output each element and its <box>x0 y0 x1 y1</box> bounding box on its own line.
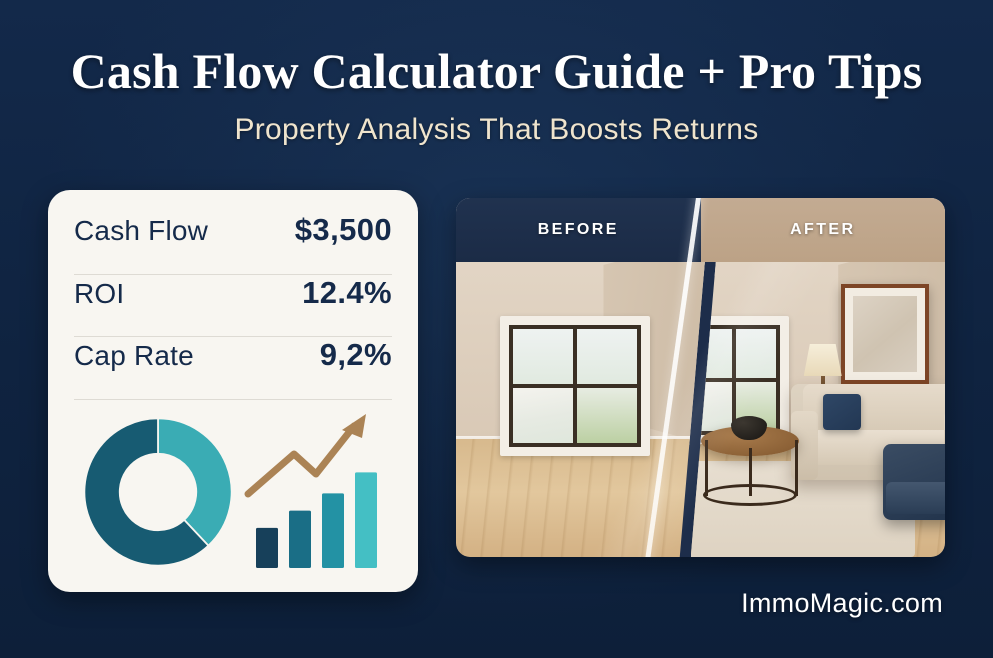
stat-value-roi: 12.4% <box>302 275 392 311</box>
bar-1 <box>256 528 278 568</box>
stat-value-cap-rate: 9,2% <box>320 337 392 373</box>
bar-chart <box>242 408 402 576</box>
before-after-panel[interactable]: BEFORE AFTER <box>456 198 945 557</box>
bar-chart-svg <box>242 408 402 576</box>
window-before <box>500 316 650 456</box>
donut-chart <box>74 412 242 572</box>
floor <box>456 439 710 557</box>
bar-2 <box>289 511 311 568</box>
stat-row-cap-rate: Cap Rate 9,2% <box>74 337 392 399</box>
bar-4 <box>355 472 377 568</box>
table-lamp-icon <box>804 344 842 376</box>
page-subtitle: Property Analysis That Boosts Returns <box>0 113 993 147</box>
coffee-table-leg-left <box>705 440 708 496</box>
bar-3 <box>322 493 344 568</box>
header: Cash Flow Calculator Guide + Pro Tips Pr… <box>0 44 993 147</box>
coffee-table-leg-center <box>749 448 752 496</box>
stat-label-cap-rate: Cap Rate <box>74 340 194 372</box>
stat-label-roi: ROI <box>74 278 124 310</box>
stat-row-roi: ROI 12.4% <box>74 275 392 337</box>
framed-artwork <box>841 284 929 384</box>
charts-area <box>74 400 392 576</box>
poster-canvas: Cash Flow Calculator Guide + Pro Tips Pr… <box>0 0 993 658</box>
coffee-table-leg-right <box>795 440 798 496</box>
brand-watermark: ImmoMagic.com <box>741 588 943 619</box>
before-banner: BEFORE <box>456 198 701 262</box>
after-label: AFTER <box>790 221 855 239</box>
stat-label-cash-flow: Cash Flow <box>74 215 208 247</box>
page-title: Cash Flow Calculator Guide + Pro Tips <box>0 44 993 99</box>
stats-card: Cash Flow $3,500 ROI 12.4% Cap Rate 9,2% <box>48 190 418 592</box>
throw-pillow <box>823 394 861 430</box>
armchair <box>883 444 945 520</box>
trend-arrow-icon <box>248 414 366 494</box>
donut-chart-svg <box>74 412 242 572</box>
floor-planks <box>456 439 710 557</box>
after-banner: AFTER <box>701 198 946 262</box>
stat-row-cash-flow: Cash Flow $3,500 <box>74 212 392 274</box>
donut-slice-1 <box>158 418 232 545</box>
stat-value-cash-flow: $3,500 <box>295 212 392 248</box>
before-after-banner: BEFORE AFTER <box>456 198 945 262</box>
before-label: BEFORE <box>538 221 619 239</box>
